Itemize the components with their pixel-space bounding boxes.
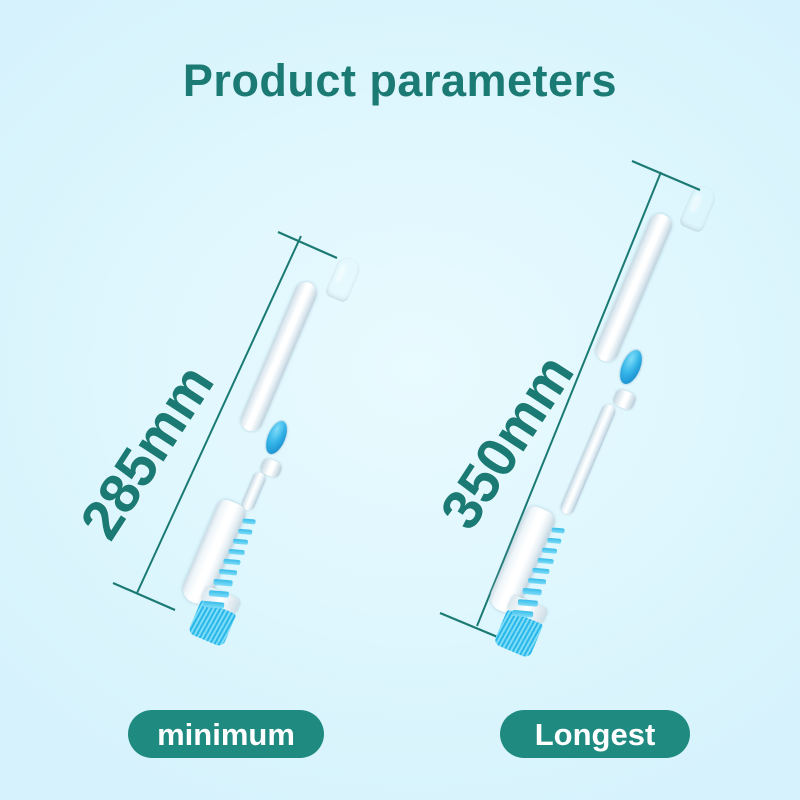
product-image-longest [500, 195, 710, 665]
brush-grip-button [262, 418, 291, 457]
label-badge-longest: Longest [500, 710, 690, 758]
label-badge-minimum: minimum [128, 710, 324, 758]
brush-handle [592, 211, 675, 365]
page-title: Product parameters [0, 58, 800, 103]
brush-extension-rod [240, 470, 268, 512]
brush-handle [237, 279, 320, 435]
product-image-minimum [195, 265, 365, 645]
brush-grip-button [616, 347, 647, 387]
brush-collar [612, 388, 638, 412]
product-parameters-infographic: Product parameters 285mm 350mm [0, 0, 800, 800]
brush-extension-rod [558, 402, 617, 516]
